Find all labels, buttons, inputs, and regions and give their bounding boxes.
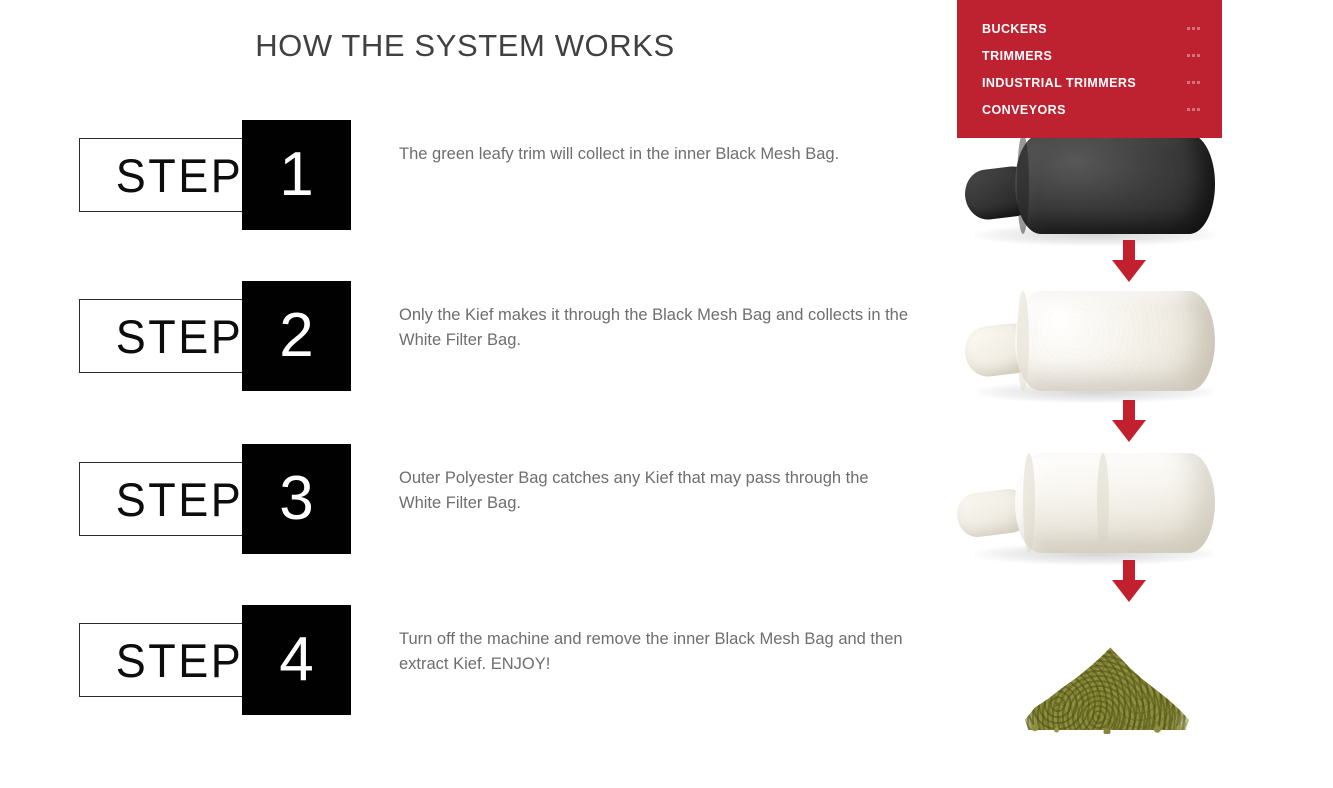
nav-item-label: INDUSTRIAL TRIMMERS [982,76,1136,90]
bag-body [1015,134,1215,234]
nav-item-industrial-trimmers[interactable]: INDUSTRIAL TRIMMERS [957,69,1222,96]
bag-body [1015,453,1215,553]
step-word-label: STEP [112,312,244,360]
step-word-label: STEP [112,636,244,684]
arrow-down-icon [1112,400,1146,440]
arrow-head [1112,420,1146,442]
black-mesh-bag-image [957,128,1227,248]
arrow-down-icon [1112,560,1146,600]
ellipsis-icon [1187,27,1200,30]
step-number-box: 1 [242,120,351,230]
step-word-label: STEP [112,475,244,523]
category-nav[interactable]: BUCKERS TRIMMERS INDUSTRIAL TRIMMERS CON… [957,0,1222,138]
white-filter-bag-image [957,285,1227,405]
nav-item-label: CONVEYORS [982,103,1066,117]
step-number-label: 4 [279,629,313,691]
arrow-head [1112,260,1146,282]
arrow-stem [1123,400,1135,422]
nav-item-trimmers[interactable]: TRIMMERS [957,42,1222,69]
kief-crumbs [1017,718,1197,734]
nav-item-buckers[interactable]: BUCKERS [957,15,1222,42]
arrow-head [1112,580,1146,602]
arrow-stem [1123,560,1135,582]
step-number-label: 2 [279,305,313,367]
bag-body [1015,291,1215,391]
ellipsis-icon [1187,108,1200,111]
step-badge: STEP 4 [79,605,351,715]
bag-seam [1017,134,1029,234]
bag-seam [1097,453,1109,553]
step-row: STEP 3 Outer Polyester Bag catches any K… [0,444,930,584]
step-number-label: 1 [279,144,313,206]
step-number-box: 3 [242,444,351,554]
step-description: Outer Polyester Bag catches any Kief tha… [399,466,914,515]
ellipsis-icon [1187,54,1200,57]
arrow-stem [1123,240,1135,262]
kief-pile-image [1017,626,1197,736]
nav-item-label: TRIMMERS [982,49,1052,63]
nav-item-label: BUCKERS [982,22,1047,36]
step-number-box: 4 [242,605,351,715]
step-description: Turn off the machine and remove the inne… [399,627,914,676]
step-number-box: 2 [242,281,351,391]
step-badge: STEP 1 [79,120,351,230]
step-badge: STEP 2 [79,281,351,391]
bag-seam [1017,291,1029,391]
step-row: STEP 1 The green leafy trim will collect… [0,120,930,260]
ellipsis-icon [1187,81,1200,84]
outer-polyester-bag-image [957,447,1227,567]
step-number-label: 3 [279,468,313,530]
step-description: Only the Kief makes it through the Black… [399,303,914,352]
step-row: STEP 2 Only the Kief makes it through th… [0,281,930,421]
nav-item-conveyors[interactable]: CONVEYORS [957,96,1222,123]
bag-seam [1023,453,1035,553]
arrow-down-icon [1112,240,1146,280]
steps-list: STEP 1 The green leafy trim will collect… [0,0,930,788]
step-badge: STEP 3 [79,444,351,554]
step-description: The green leafy trim will collect in the… [399,142,914,167]
step-row: STEP 4 Turn off the machine and remove t… [0,605,930,745]
step-word-label: STEP [112,151,244,199]
how-it-works-infographic: HOW THE SYSTEM WORKS STEP 1 The green le… [0,0,1333,788]
